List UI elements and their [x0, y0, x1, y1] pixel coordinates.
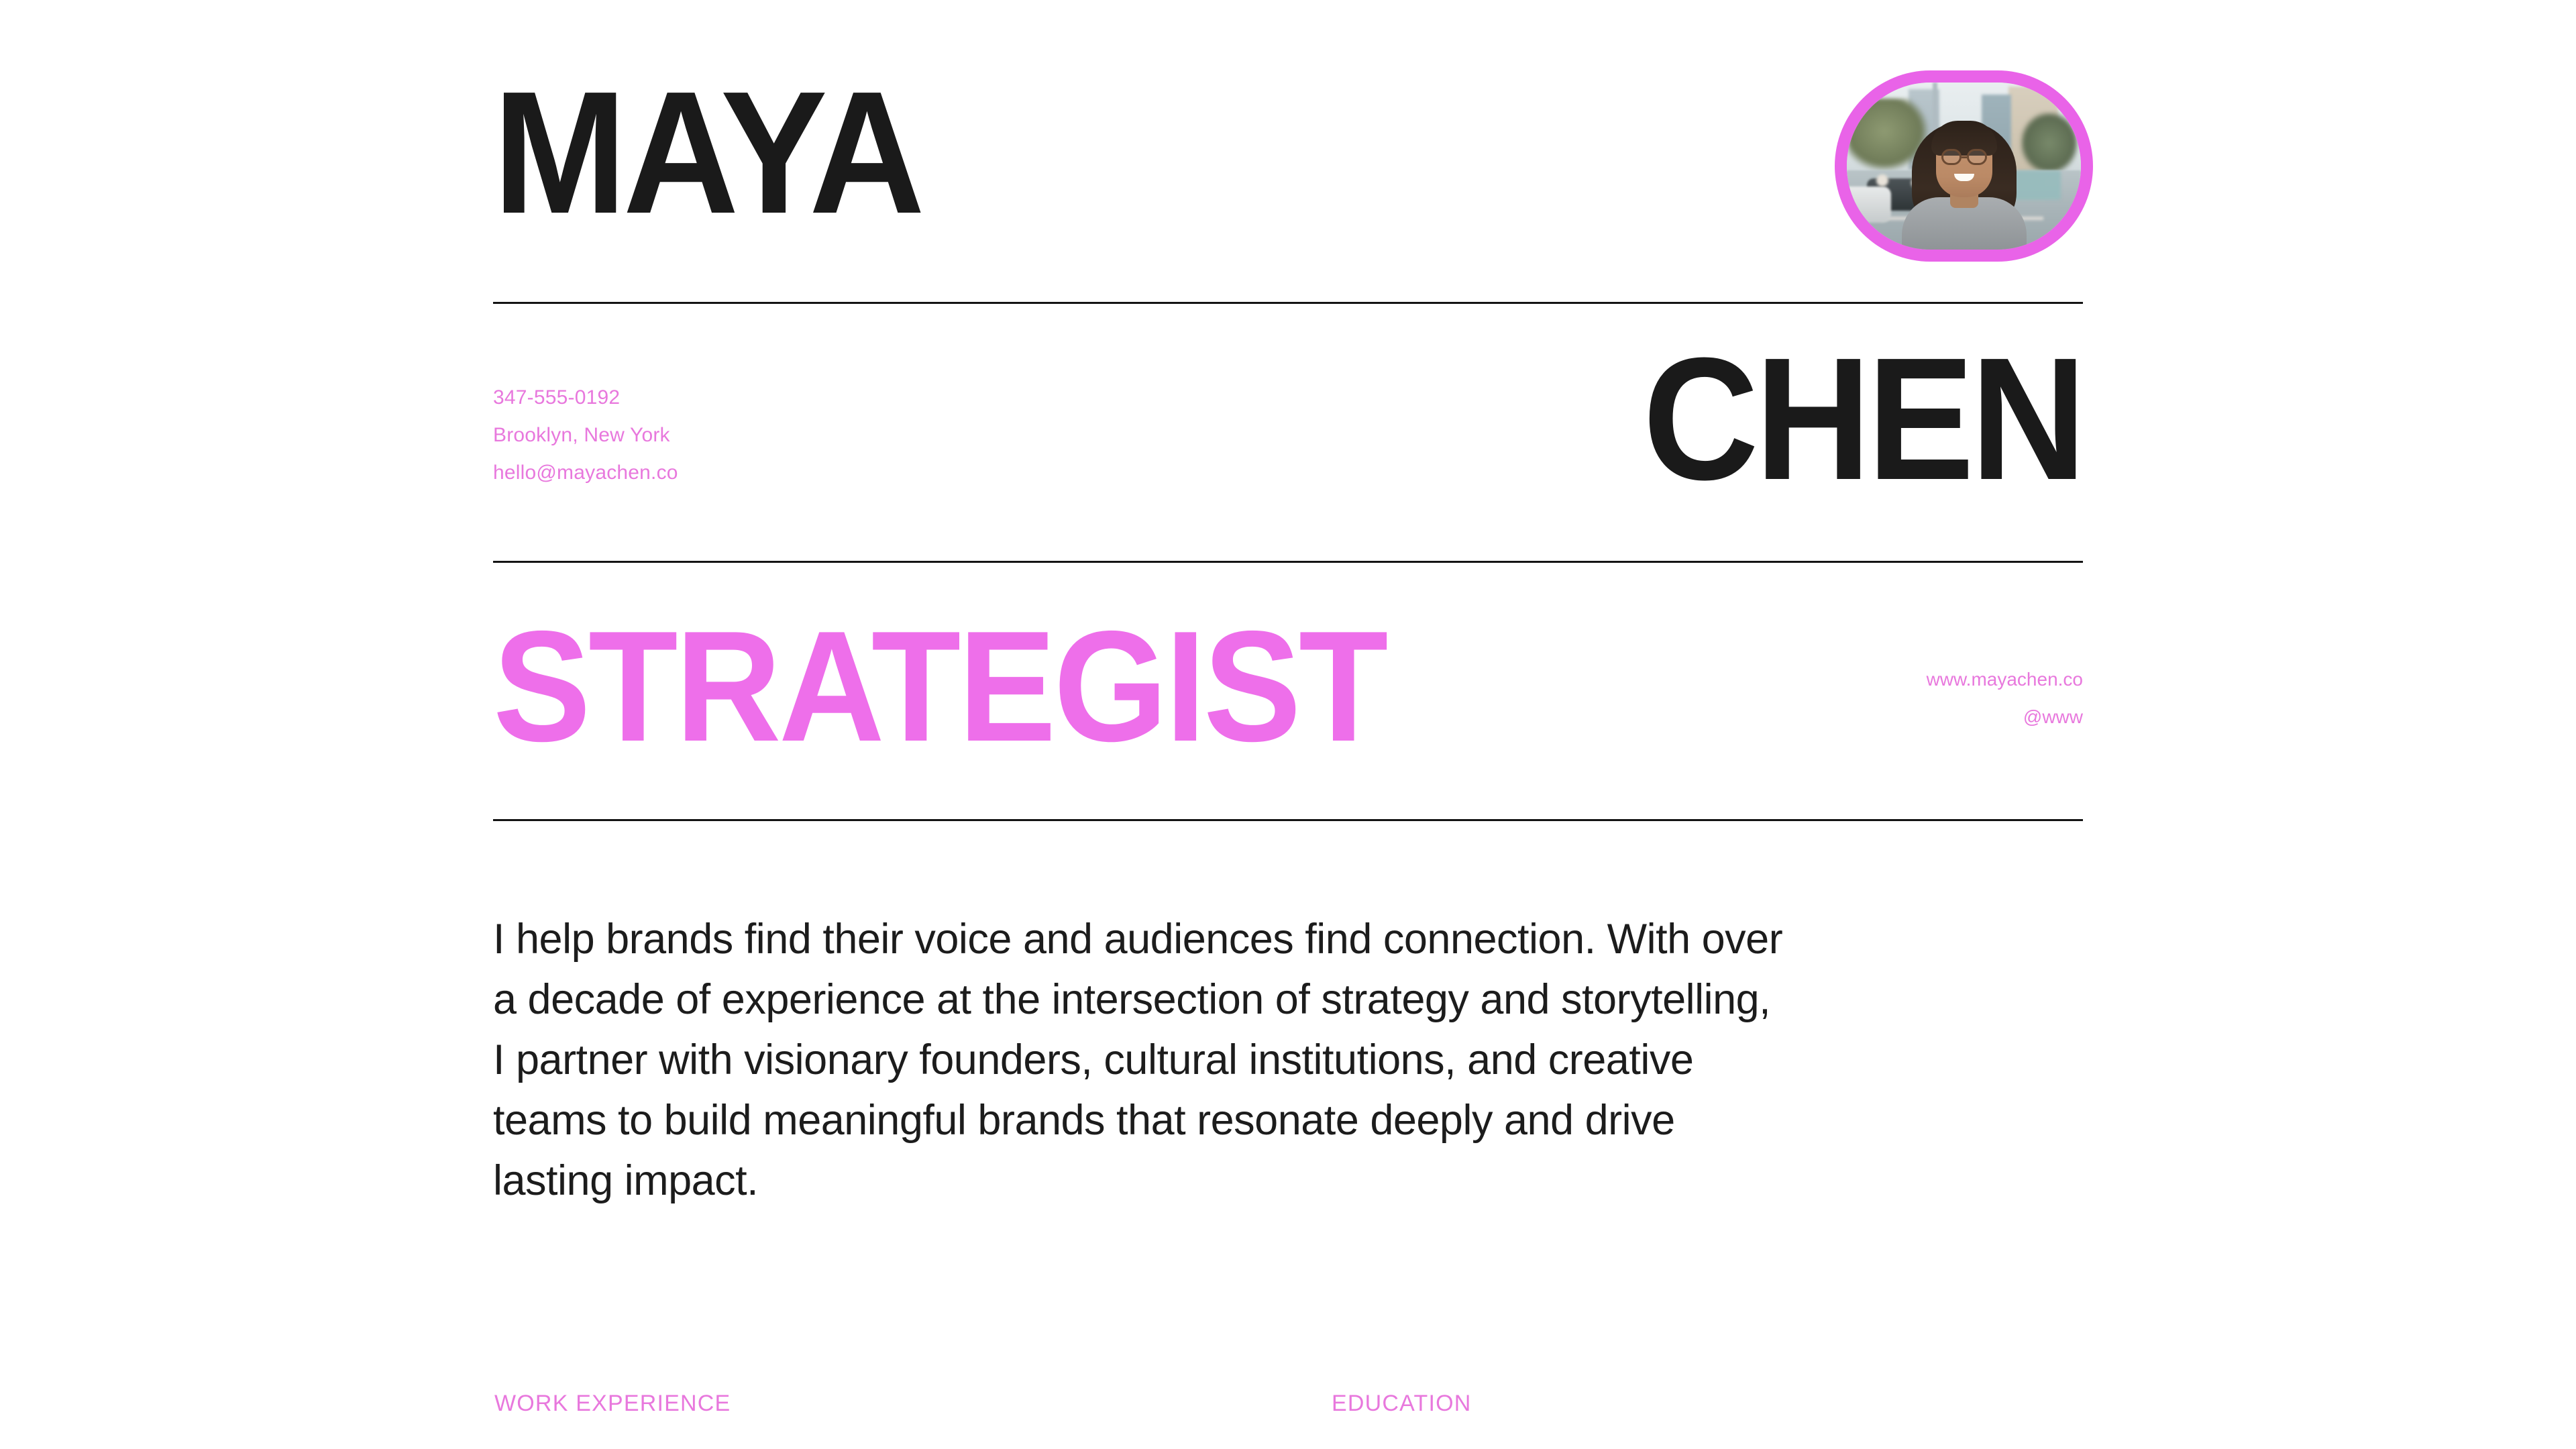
last-name-row: CHEN — [493, 332, 2083, 506]
first-name: MAYA — [493, 66, 921, 240]
last-name: CHEN — [1643, 332, 2083, 506]
summary-line-1: I help brands find their voice and audie… — [493, 909, 2103, 969]
summary-paragraph: I help brands find their voice and audie… — [493, 909, 2103, 1211]
photo-subject-glasses-left — [1941, 149, 1962, 165]
divider-top — [493, 302, 2083, 304]
divider-middle — [493, 561, 2083, 563]
photo-pedestrian-1 — [1876, 174, 1888, 186]
summary-line-3: I partner with visionary founders, cultu… — [493, 1030, 2103, 1090]
section-header-education: EDUCATION — [1332, 1391, 1472, 1417]
avatar — [1835, 70, 2093, 262]
photo-car-light — [1847, 186, 1891, 223]
photo-subject-glasses-bridge — [1962, 156, 1967, 158]
link-handle[interactable]: @www — [493, 698, 2083, 736]
photo-subject-glasses-right — [1967, 149, 1987, 165]
photo-subject — [1890, 122, 2038, 250]
divider-bottom — [493, 819, 2083, 821]
links-block: www.mayachen.co @www — [493, 661, 2083, 736]
summary-line-2: a decade of experience at the intersecti… — [493, 969, 2103, 1030]
summary-line-5: lasting impact. — [493, 1150, 2103, 1211]
avatar-photo — [1847, 83, 2081, 250]
resume-page: MAYA — [0, 0, 2576, 1449]
photo-subject-hair-top — [1931, 121, 1997, 156]
link-website[interactable]: www.mayachen.co — [493, 661, 2083, 698]
summary-line-4: teams to build meaningful brands that re… — [493, 1090, 2103, 1150]
section-header-work-experience: WORK EXPERIENCE — [494, 1391, 731, 1417]
